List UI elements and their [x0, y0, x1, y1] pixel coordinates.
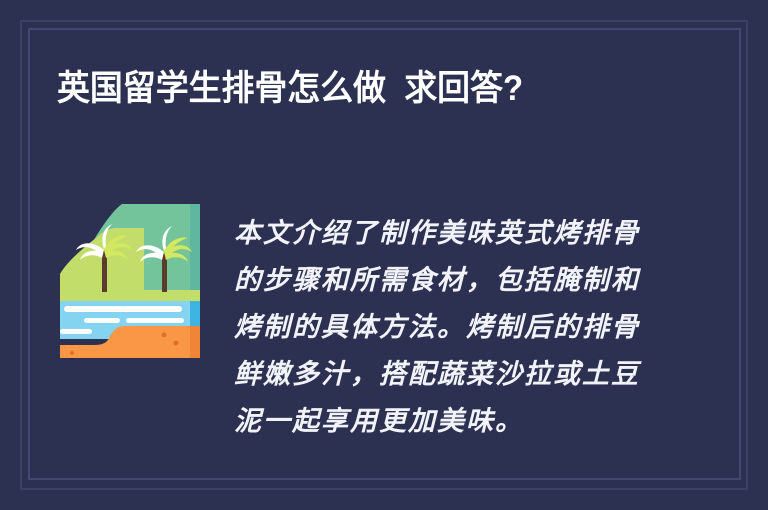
sand-dot-3: [70, 351, 74, 355]
hill-shade: [190, 204, 200, 298]
foam-line-4: [60, 329, 92, 334]
page-title: 英国留学生排骨怎么做 求回答?: [57, 68, 659, 110]
foam-line-1: [64, 306, 182, 312]
article-cover-card: 英国留学生排骨怎么做 求回答?: [0, 0, 768, 510]
beach-island-illustration: [58, 202, 210, 360]
sand-dot-1: [162, 333, 167, 338]
sand-dot-2: [174, 341, 179, 346]
sand-shade: [190, 326, 200, 358]
grass-strip: [60, 290, 200, 301]
foam-line-3: [126, 318, 184, 323]
article-summary-text: 本文介绍了制作美味英式烤排骨的步骤和所需食材，包括腌制和烤制的具体方法。烤制后的…: [234, 210, 646, 445]
beach-island-icon: [58, 202, 210, 360]
foam-line-2: [84, 318, 120, 323]
